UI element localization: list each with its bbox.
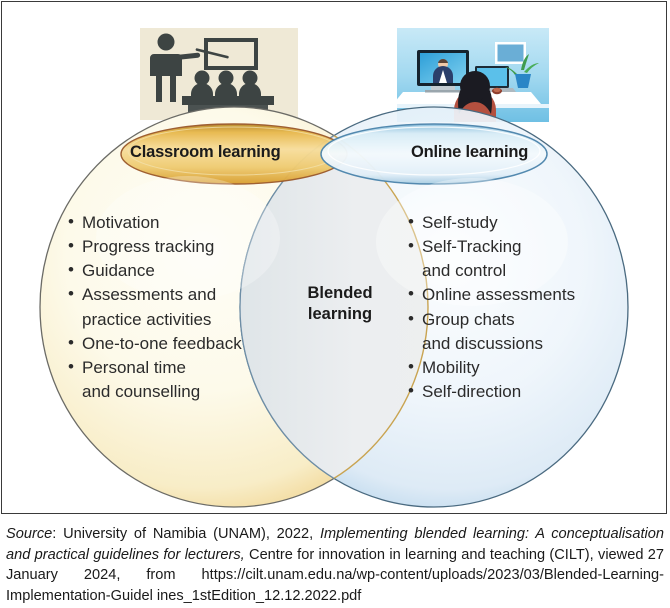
overlap-title: Blended learning	[298, 283, 382, 325]
overlap-title-line1: Blended	[298, 283, 382, 304]
left-circle-title: Classroom learning	[130, 143, 280, 162]
list-item-label: Online assessments	[422, 285, 575, 304]
list-item-label: Self-direction	[422, 382, 521, 401]
list-item-label: Self-Tracking	[422, 237, 522, 256]
source-label: Source	[6, 526, 52, 542]
list-item-label: Motivation	[82, 213, 159, 232]
left-feature-list: MotivationProgress trackingGuidanceAsses…	[68, 211, 242, 404]
list-item-label: Mobility	[422, 358, 480, 377]
list-item-label: Progress tracking	[82, 237, 214, 256]
list-item-label: Group chats	[422, 310, 515, 329]
list-item-label: Guidance	[82, 261, 155, 280]
list-item: Progress tracking	[68, 235, 242, 259]
right-circle-title: Online learning	[411, 143, 528, 162]
list-item-label: One-to-one feedback	[82, 334, 242, 353]
list-item-label: and control	[422, 261, 506, 280]
list-item-label: and discussions	[422, 334, 543, 353]
right-feature-list: Self-studySelf-Trackingand controlOnline…	[408, 211, 575, 404]
list-item: Online assessments	[408, 283, 575, 307]
page-root: Classroom learning Online learning Blend…	[0, 0, 670, 608]
list-item: Self-study	[408, 211, 575, 235]
list-item: Group chats	[408, 308, 575, 332]
list-item: Mobility	[408, 356, 575, 380]
list-item: Guidance	[68, 259, 242, 283]
list-item: Motivation	[68, 211, 242, 235]
list-item-label: Personal time	[82, 358, 186, 377]
list-item-label: practice activities	[82, 310, 211, 329]
list-item: and discussions	[408, 332, 575, 356]
list-item: Self-Tracking	[408, 235, 575, 259]
list-item: and control	[408, 259, 575, 283]
list-item: Assessments and	[68, 283, 242, 307]
list-item-label: Assessments and	[82, 285, 216, 304]
list-item-label: Self-study	[422, 213, 498, 232]
overlap-title-line2: learning	[298, 304, 382, 325]
list-item: Self-direction	[408, 380, 575, 404]
diagram-frame: Classroom learning Online learning Blend…	[1, 1, 667, 514]
list-item: Personal time	[68, 356, 242, 380]
list-item-label: and counselling	[82, 382, 200, 401]
list-item: practice activities	[68, 308, 242, 332]
list-item: and counselling	[68, 380, 242, 404]
list-item: One-to-one feedback	[68, 332, 242, 356]
source-part1: University of Namibia (UNAM), 2022,	[56, 526, 320, 542]
source-caption: Source: University of Namibia (UNAM), 20…	[6, 524, 664, 607]
